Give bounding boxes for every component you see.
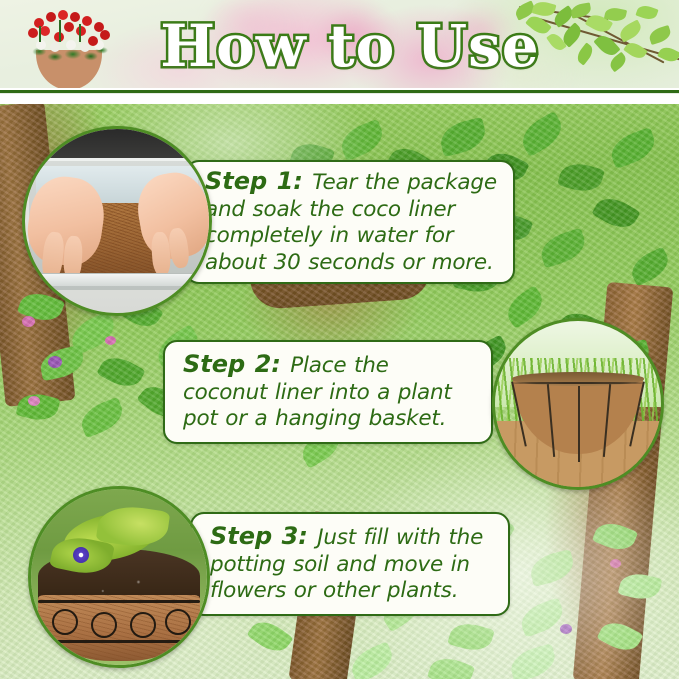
pot-band [42, 640, 197, 643]
rose-red [28, 28, 38, 38]
header-white-gap [0, 95, 679, 104]
rose-red [58, 10, 68, 20]
step-2-textbox: Step 2: Place the coconut liner into a p… [163, 340, 493, 444]
header-banner: How to Use [0, 0, 679, 95]
step-3-label: Step 3: [210, 522, 317, 550]
leafy-branch-icon [509, 0, 679, 92]
step-3-text: Step 3: Just fill with the potting soil … [192, 523, 508, 605]
rose-red [88, 36, 98, 46]
rose-basket-icon [14, 6, 124, 90]
scroll-ironwork [130, 612, 156, 638]
pot-band [38, 600, 200, 603]
scroll-ironwork [165, 609, 191, 635]
rose-red [40, 26, 50, 36]
step-2-label: Step 2: [183, 350, 290, 378]
page-title: How to Use [160, 17, 539, 75]
step-1-photo [22, 126, 212, 316]
step-2-text: Step 2: Place the coconut liner into a p… [165, 351, 491, 433]
scroll-ironwork [52, 609, 78, 635]
page-title-wrapper: How to Use [150, 9, 550, 83]
step-3-photo [28, 486, 210, 668]
step-2-photo [492, 318, 664, 490]
how-to-use-infographic: How to Use [0, 0, 679, 679]
rose-red [64, 22, 74, 32]
rose-red [70, 12, 80, 22]
rose-red [76, 26, 86, 36]
step-3-textbox: Step 3: Just fill with the potting soil … [190, 512, 510, 616]
rose-red [46, 12, 56, 22]
rose-white [36, 40, 46, 50]
flower-pink [28, 396, 40, 406]
header-divider [0, 88, 679, 95]
flower-pink [610, 559, 621, 568]
rose-white [66, 40, 76, 50]
rose-red [100, 30, 110, 40]
flower-purple [560, 624, 572, 634]
rose-red [82, 16, 92, 26]
flower-pink [105, 336, 116, 345]
flower-purple [48, 356, 62, 368]
basket-wire [578, 386, 580, 462]
scroll-ironwork [91, 612, 117, 638]
step-1-text: Step 1: Tear the package and soak the co… [187, 168, 513, 276]
step-1-textbox: Step 1: Tear the package and soak the co… [185, 160, 515, 284]
rose-white [50, 42, 60, 52]
step-1-label: Step 1: [205, 167, 312, 195]
tray-edge [29, 273, 206, 287]
flower-pink [22, 316, 35, 327]
